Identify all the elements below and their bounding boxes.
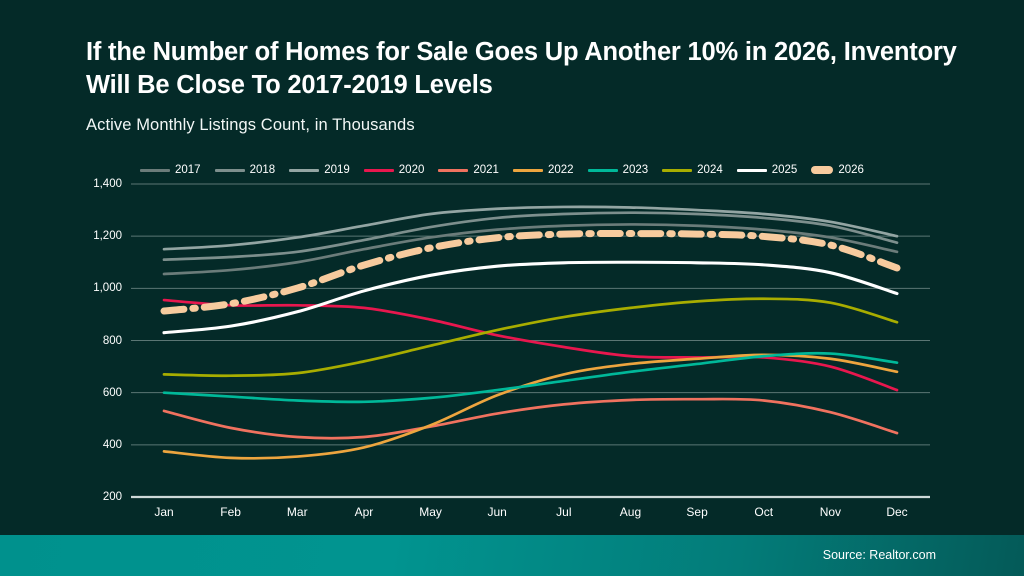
legend-item-2017[interactable]: 2017 <box>140 164 201 176</box>
chart-plot-area <box>131 178 930 503</box>
legend-swatch-2019 <box>289 169 319 172</box>
series-line-2020 <box>164 300 897 390</box>
series-line-2022 <box>164 355 897 458</box>
legend-swatch-2025 <box>737 169 767 172</box>
legend-swatch-2021 <box>438 169 468 172</box>
page-title: If the Number of Homes for Sale Goes Up … <box>86 36 966 103</box>
legend-item-2020[interactable]: 2020 <box>364 164 425 176</box>
legend-label-2021: 2021 <box>473 164 499 176</box>
legend-label-2024: 2024 <box>697 164 723 176</box>
x-tick-label-mar: Mar <box>287 505 308 519</box>
slide-root: If the Number of Homes for Sale Goes Up … <box>0 0 1024 576</box>
legend-item-2026[interactable]: 2026 <box>811 164 864 176</box>
legend-swatch-2017 <box>140 169 170 172</box>
legend-swatch-2023 <box>588 169 618 172</box>
y-tick-label: 1,400 <box>66 178 122 190</box>
x-tick-label-nov: Nov <box>820 505 841 519</box>
y-tick-label: 800 <box>66 335 122 347</box>
x-tick-label-feb: Feb <box>220 505 241 519</box>
y-tick-label: 400 <box>66 439 122 451</box>
y-axis-labels: 1,4001,2001,000800600400200 <box>66 178 122 503</box>
x-tick-label-may: May <box>419 505 442 519</box>
legend-label-2023: 2023 <box>623 164 649 176</box>
x-tick-label-jun: Jun <box>487 505 506 519</box>
legend-label-2019: 2019 <box>324 164 350 176</box>
legend-swatch-2018 <box>215 169 245 172</box>
legend-item-2021[interactable]: 2021 <box>438 164 499 176</box>
chart-legend: 2017201820192020202120222023202420252026 <box>140 160 930 180</box>
legend-swatch-2020 <box>364 169 394 172</box>
legend-item-2019[interactable]: 2019 <box>289 164 350 176</box>
x-tick-label-oct: Oct <box>754 505 773 519</box>
x-tick-label-jul: Jul <box>556 505 571 519</box>
legend-label-2018: 2018 <box>250 164 276 176</box>
legend-item-2024[interactable]: 2024 <box>662 164 723 176</box>
page-subtitle: Active Monthly Listings Count, in Thousa… <box>86 116 966 135</box>
x-tick-label-dec: Dec <box>886 505 907 519</box>
legend-swatch-2026 <box>811 166 833 174</box>
legend-swatch-2022 <box>513 169 543 172</box>
y-tick-label: 600 <box>66 387 122 399</box>
y-tick-label: 200 <box>66 491 122 503</box>
legend-swatch-2024 <box>662 169 692 172</box>
y-tick-label: 1,000 <box>66 282 122 294</box>
legend-item-2018[interactable]: 2018 <box>215 164 276 176</box>
series-lines <box>164 207 897 458</box>
header: If the Number of Homes for Sale Goes Up … <box>86 36 966 135</box>
legend-item-2023[interactable]: 2023 <box>588 164 649 176</box>
chart-svg <box>131 178 930 503</box>
x-tick-label-sep: Sep <box>686 505 707 519</box>
x-tick-label-apr: Apr <box>355 505 374 519</box>
legend-label-2026: 2026 <box>838 164 864 176</box>
x-tick-label-jan: Jan <box>154 505 173 519</box>
legend-label-2022: 2022 <box>548 164 574 176</box>
y-tick-label: 1,200 <box>66 230 122 242</box>
series-line-2021 <box>164 399 897 438</box>
series-line-2024 <box>164 299 897 376</box>
x-axis-labels: JanFebMarAprMayJunJulAugSepOctNovDec <box>131 505 930 523</box>
legend-item-2025[interactable]: 2025 <box>737 164 798 176</box>
legend-item-2022[interactable]: 2022 <box>513 164 574 176</box>
source-label: Source: Realtor.com <box>823 548 936 562</box>
legend-label-2017: 2017 <box>175 164 201 176</box>
legend-label-2020: 2020 <box>399 164 425 176</box>
x-tick-label-aug: Aug <box>620 505 641 519</box>
legend-label-2025: 2025 <box>772 164 798 176</box>
